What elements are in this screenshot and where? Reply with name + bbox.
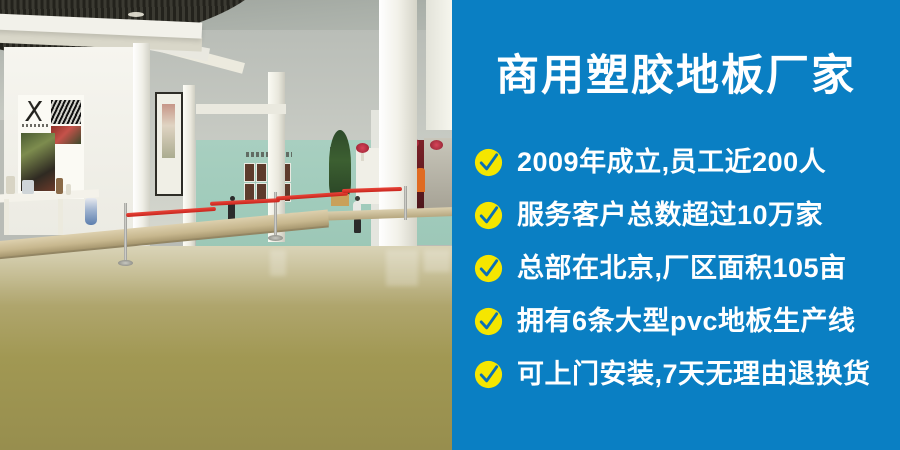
list-item: 可上门安装,7天无理由退换货: [474, 348, 900, 401]
list-item: 拥有6条大型pvc地板生产线: [474, 295, 900, 348]
list-item-label: 可上门安装,7天无理由退换货: [517, 361, 871, 388]
ceiling-light-icon: [128, 12, 144, 17]
list-item-label: 2009年成立,员工近200人: [517, 149, 826, 176]
list-item: 总部在北京,厂区面积105亩: [474, 242, 900, 295]
floor-reflection: [270, 250, 286, 276]
showroom-photo: [0, 0, 452, 450]
table-leg: [58, 199, 63, 235]
rope-stanchion: [124, 203, 127, 263]
flower-arrangement: [356, 143, 369, 153]
feature-list: 2009年成立,员工近200人 服务客户总数超过10万家 总部在北京,厂区面积1…: [474, 136, 900, 401]
check-circle-icon: [474, 307, 503, 336]
list-item: 2009年成立,员工近200人: [474, 136, 900, 189]
poster-calligraphy: [22, 101, 46, 121]
floor-reflection: [386, 250, 418, 286]
flower-arrangement: [430, 140, 443, 150]
floor-sheen: [0, 246, 452, 306]
rope-stanchion: [404, 186, 407, 220]
check-circle-icon: [474, 360, 503, 389]
scroll-artwork: [162, 104, 175, 158]
table-item: [22, 180, 34, 194]
hall-column-edge: [426, 0, 452, 130]
check-circle-icon: [474, 254, 503, 283]
check-circle-icon: [474, 201, 503, 230]
framed-scroll: [155, 92, 183, 196]
table-item: [66, 184, 71, 195]
panel-title: 商用塑胶地板厂家: [452, 55, 900, 98]
wall-frame: [244, 163, 255, 182]
list-item-label: 总部在北京,厂区面积105亩: [517, 255, 847, 282]
check-circle-icon: [474, 148, 503, 177]
topiary-plant: [329, 130, 351, 198]
info-panel: 商用塑胶地板厂家 2009年成立,员工近200人 服务客户总数超过10万家: [452, 0, 900, 450]
poster-subtitle: [22, 124, 48, 127]
stanchion-base: [268, 235, 283, 241]
table-item: [6, 176, 15, 194]
list-item: 服务客户总数超过10万家: [474, 189, 900, 242]
poster-photo-mid: [51, 126, 81, 144]
list-item-label: 服务客户总数超过10万家: [517, 202, 823, 229]
table-item: [56, 178, 63, 194]
pavilion-wall-panel: [4, 47, 142, 235]
poster-photo-top: [51, 100, 81, 124]
floor-reflection: [424, 250, 450, 272]
table-leg: [4, 199, 9, 235]
wall-frame: [256, 163, 267, 182]
stanchion-base: [118, 260, 133, 266]
promo-banner: 商用塑胶地板厂家 2009年成立,员工近200人 服务客户总数超过10万家: [0, 0, 900, 450]
pavilion-lintel: [196, 104, 286, 114]
person-figure: [416, 168, 425, 192]
blue-vase: [85, 198, 97, 225]
list-item-label: 拥有6条大型pvc地板生产线: [517, 308, 856, 335]
